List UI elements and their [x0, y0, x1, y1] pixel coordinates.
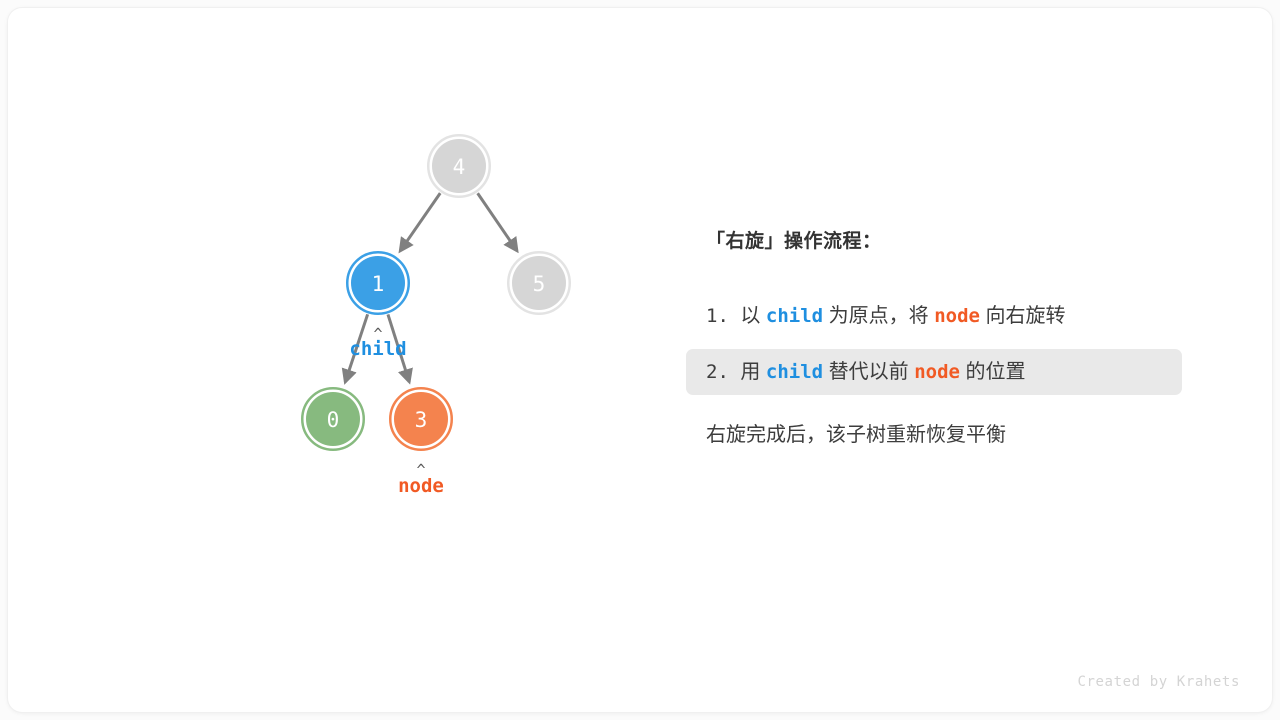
content-card: 45103 ^child^node 「右旋」操作流程： 1. 以 child 为… — [8, 8, 1272, 712]
step-text-fragment: 替代以前 — [823, 361, 914, 383]
pointer-label: node — [398, 475, 444, 497]
tree-node-value: 4 — [453, 155, 466, 179]
ptr-child: ^child — [349, 325, 406, 360]
step-text: 2. 用 child 替代以前 node 的位置 — [706, 358, 1026, 386]
panel-note: 右旋完成后，该子树重新恢复平衡 — [706, 421, 1226, 449]
screenshot-canvas: 45103 ^child^node 「右旋」操作流程： 1. 以 child 为… — [0, 0, 1280, 720]
keyword-node: node — [914, 361, 960, 383]
steps-list: 1. 以 child 为原点，将 node 向右旋转2. 用 child 替代以… — [706, 293, 1226, 395]
step-row-1[interactable]: 1. 以 child 为原点，将 node 向右旋转 — [686, 293, 1182, 339]
step-text-fragment: 的位置 — [960, 361, 1026, 383]
tree-node-3[interactable]: 3 — [390, 388, 452, 450]
explanation-panel: 「右旋」操作流程： 1. 以 child 为原点，将 node 向右旋转2. 用… — [706, 230, 1226, 449]
tree-node-value: 1 — [372, 272, 385, 296]
keyword-node: node — [934, 305, 980, 327]
step-text: 1. 以 child 为原点，将 node 向右旋转 — [706, 302, 1066, 330]
ptr-node: ^node — [398, 461, 444, 497]
tree-edge — [478, 193, 517, 251]
pointer-label: child — [349, 338, 406, 360]
tree-nodes: 45103 — [302, 135, 570, 450]
step-text-fragment: 以 — [740, 305, 766, 327]
credit-text: Created by Krahets — [1077, 674, 1240, 690]
tree-svg: 45103 ^child^node — [8, 8, 668, 712]
tree-edge — [400, 193, 440, 251]
step-text-fragment: 用 — [740, 361, 766, 383]
step-index: 2. — [706, 361, 740, 383]
step-text-fragment: 向右旋转 — [980, 305, 1066, 327]
step-row-2[interactable]: 2. 用 child 替代以前 node 的位置 — [686, 349, 1182, 395]
avl-tree-diagram: 45103 ^child^node — [8, 8, 668, 712]
step-index: 1. — [706, 305, 740, 327]
panel-title: 「右旋」操作流程： — [706, 230, 1226, 255]
keyword-child: child — [766, 361, 823, 383]
tree-node-value: 5 — [533, 272, 546, 296]
tree-node-1[interactable]: 1 — [347, 252, 409, 314]
step-text-fragment: 为原点，将 — [823, 305, 934, 327]
tree-node-0[interactable]: 0 — [302, 388, 364, 450]
tree-node-value: 3 — [415, 408, 428, 432]
keyword-child: child — [766, 305, 823, 327]
tree-node-5[interactable]: 5 — [508, 252, 570, 314]
tree-node-4[interactable]: 4 — [428, 135, 490, 197]
tree-node-value: 0 — [327, 408, 340, 432]
